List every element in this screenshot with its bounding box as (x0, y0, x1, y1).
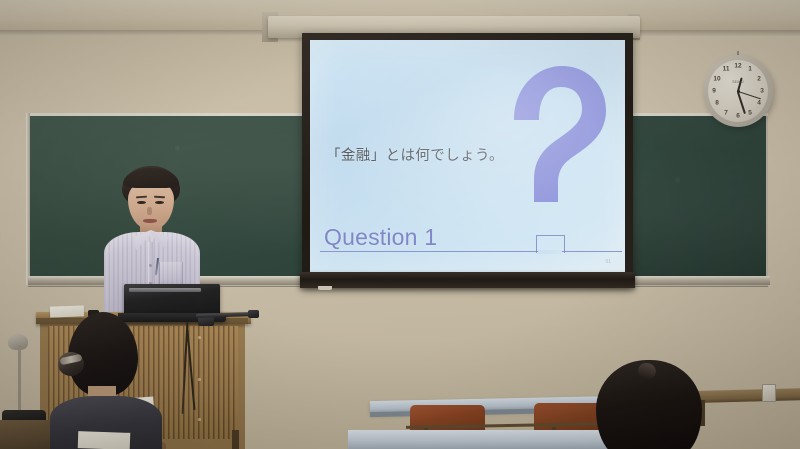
presenter-nose (147, 207, 152, 215)
microphone-head (248, 310, 259, 318)
presenter-mouth (143, 219, 157, 223)
microphone-base (198, 317, 214, 326)
clock-numeral: 11 (723, 66, 730, 73)
clock-numeral: 5 (748, 109, 752, 116)
slide-corner-mark: 01 (605, 259, 611, 265)
clock-second-hand (738, 91, 761, 99)
clock-face: SEIKO 12 1 2 3 4 5 6 7 8 9 10 11 (708, 60, 768, 122)
equipment-stand-pole (18, 345, 21, 415)
chalkboard-left-trim (26, 113, 30, 285)
laptop-hinge-strip (129, 288, 201, 292)
clock-numeral: 12 (734, 63, 741, 70)
lectern-fastener (198, 418, 201, 421)
clock-numeral: 3 (760, 88, 764, 95)
wall-clock: SEIKO 12 1 2 3 4 5 6 7 8 9 10 11 (703, 55, 773, 127)
projector-screen-surface: 「金融」とは何でしょう。 Question 1 01 (310, 40, 625, 273)
clock-numeral: 6 (736, 112, 740, 119)
lectern-fastener (198, 336, 201, 339)
paper-stack (78, 431, 131, 449)
screen-bottom-weight-bar (300, 272, 635, 288)
slide-question-text: 「金融」とは何でしょう。 (326, 144, 504, 165)
lectern-fastener (198, 378, 201, 381)
clock-minute-hand (737, 92, 746, 114)
slide-footer-rule (320, 251, 622, 252)
presenter-shirt-button (149, 264, 152, 267)
light-switch[interactable] (762, 384, 776, 402)
clock-numeral: 2 (757, 75, 761, 82)
clock-numeral: 4 (757, 100, 761, 107)
lectern-leg-right (232, 430, 239, 449)
classroom-scene: SEIKO 12 1 2 3 4 5 6 7 8 9 10 11 「金融」とは何… (0, 0, 800, 449)
upper-left-wall (0, 34, 300, 124)
clock-center-pin (737, 90, 740, 93)
slide-footer-notch-mask (538, 250, 562, 254)
question-mark-icon (500, 62, 610, 247)
clock-numeral: 1 (748, 66, 752, 73)
clock-numeral: 7 (724, 109, 728, 116)
clock-numeral: 8 (715, 100, 719, 107)
student-seated-right (596, 360, 702, 449)
screen-pull-tab (318, 286, 332, 290)
clock-numeral: 10 (713, 75, 720, 82)
slide-footer-label: Question 1 (324, 224, 437, 251)
clock-numeral: 9 (712, 88, 716, 95)
student-seated-left (36, 312, 166, 449)
